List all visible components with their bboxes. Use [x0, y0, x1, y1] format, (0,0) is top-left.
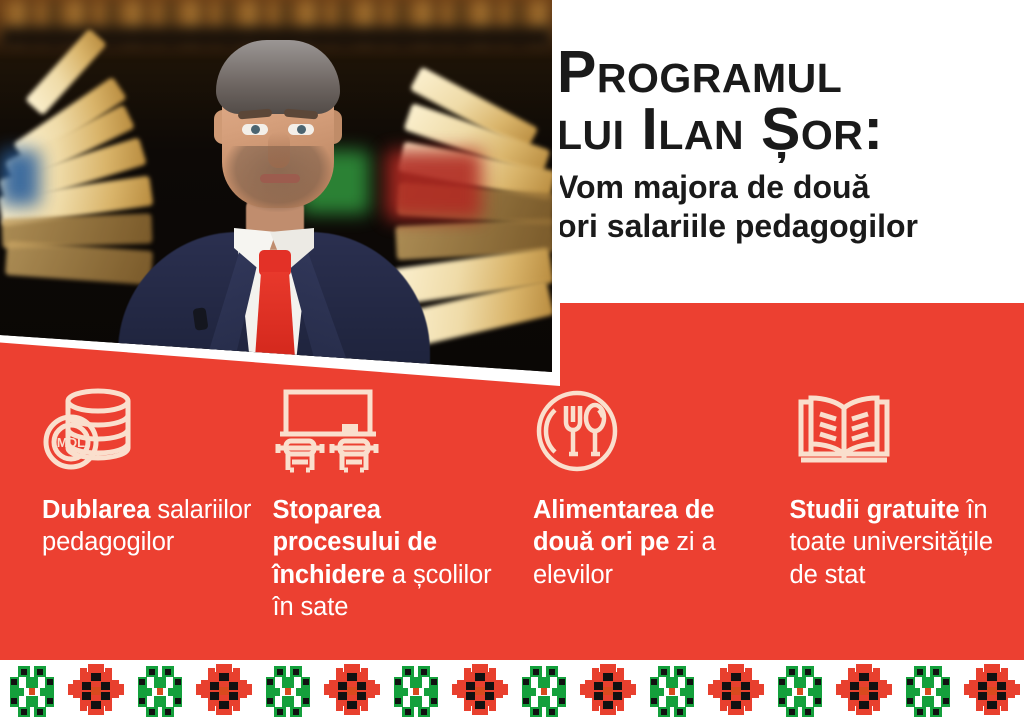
- feature-text-bold: Dublarea: [42, 496, 150, 524]
- background-color-blur: [0, 150, 40, 206]
- blackboard-desks-icon: [272, 388, 384, 474]
- plate-fork-spoon-icon: [533, 388, 621, 474]
- coin-stack-mdl-icon: MDL: [42, 388, 134, 474]
- open-book-icon: [789, 388, 899, 474]
- feature-text: Stoparea procesului de închidere a școli…: [272, 494, 511, 624]
- nose: [268, 132, 290, 168]
- coin-currency-label: MDL: [57, 435, 85, 450]
- poster-canvas: Programul lui Ilan Șor: Vom majora de do…: [0, 0, 1024, 722]
- embroidery-border: [0, 660, 1024, 722]
- feature-text-bold: Studii gratuite: [789, 496, 959, 524]
- feature-item-university: Studii gratuite în toate universitățile …: [789, 388, 1024, 650]
- pupil-left: [251, 125, 260, 134]
- hair: [216, 40, 340, 114]
- feature-item-meals: Alimentarea de două ori pe zi a elevilor: [533, 388, 772, 650]
- feature-item-salary: MDL Dublarea salariilor pedagogilor: [42, 388, 290, 650]
- page-subtitle: Vom majora de două ori salariile pedagog…: [557, 168, 1017, 246]
- mouth: [260, 174, 300, 183]
- feature-text: Alimentarea de două ori pe zi a elevilor: [533, 494, 772, 591]
- page-title: Programul lui Ilan Șor:: [557, 44, 1017, 158]
- title-block: Programul lui Ilan Șor: Vom majora de do…: [557, 44, 1017, 247]
- photo-frame: [0, 0, 560, 386]
- feature-list: MDL Dublarea salariilor pedagogilor: [0, 388, 1024, 650]
- feature-text: Dublarea salariilor pedagogilor: [42, 494, 290, 559]
- candidate-photo: [0, 0, 552, 378]
- subject-figure: [142, 18, 404, 378]
- red-necktie: [255, 272, 295, 378]
- feature-item-schools: Stoparea procesului de închidere a școli…: [272, 388, 511, 650]
- embroidery-pattern: [0, 660, 1024, 722]
- pupil-right: [297, 125, 306, 134]
- feature-text: Studii gratuite în toate universitățile …: [789, 494, 1024, 591]
